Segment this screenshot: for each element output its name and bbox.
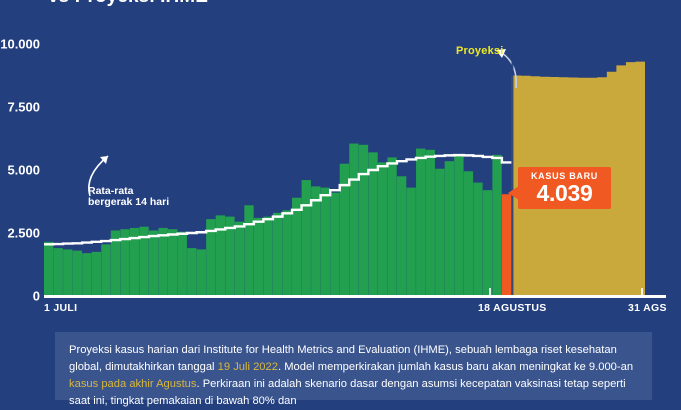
bar <box>168 229 177 296</box>
bar <box>426 150 435 296</box>
bar <box>244 205 253 296</box>
bar <box>359 145 368 296</box>
infographic-root: vs Proyeksi IHME 10.000 7.500 5.000 2.50… <box>0 0 681 400</box>
bar <box>263 217 272 296</box>
bar <box>197 249 206 296</box>
bar <box>82 253 91 296</box>
bar <box>378 162 387 296</box>
bar <box>282 210 291 296</box>
bar <box>397 176 406 296</box>
y-tick-0: 0 <box>33 289 40 304</box>
bar <box>54 248 63 296</box>
bar <box>101 244 110 296</box>
y-axis-labels: 10.000 7.500 5.000 2.500 0 <box>0 44 40 296</box>
bar <box>368 152 377 296</box>
bar <box>407 188 416 296</box>
bar <box>473 183 482 296</box>
x-tickmark-1 <box>489 288 491 296</box>
bar-latest <box>502 194 511 296</box>
bar <box>149 230 158 296</box>
bar <box>340 164 349 296</box>
x-tick-31-ags: 31 AGS <box>628 302 667 314</box>
x-tick-1-juli: 1 JULI <box>44 302 77 314</box>
bar <box>435 169 444 296</box>
bar <box>92 252 101 296</box>
bar <box>63 249 72 296</box>
moving-average-line-2: bergerak 14 hari <box>88 197 169 208</box>
bar <box>254 218 263 296</box>
bar <box>492 155 501 296</box>
caption-highlight-forecast: kasus pada akhir Agustus <box>69 378 197 390</box>
projection-annotation-label: Proyeksi <box>456 45 503 57</box>
bar <box>302 180 311 296</box>
projection-divider <box>511 44 513 296</box>
caption-part-2: . Model memperkirakan jumlah kasus baru … <box>278 361 633 373</box>
bar <box>349 144 358 296</box>
y-tick-10000: 10.000 <box>0 37 40 52</box>
bar <box>216 215 225 296</box>
bar <box>273 213 282 296</box>
callout-value: 4.039 <box>536 181 592 205</box>
bar <box>483 190 492 296</box>
bar <box>464 171 473 296</box>
x-axis-line <box>44 295 666 298</box>
bar <box>44 242 53 296</box>
bar <box>387 157 396 296</box>
y-tick-7500: 7.500 <box>7 100 40 115</box>
bar <box>187 248 196 296</box>
bar <box>178 232 187 296</box>
bar <box>416 149 425 296</box>
bar <box>235 222 244 296</box>
bar <box>321 188 330 296</box>
bar <box>311 186 320 296</box>
new-cases-callout: KASUS BARU 4.039 <box>518 167 611 209</box>
moving-average-annotation: Rata-rata bergerak 14 hari <box>88 186 169 208</box>
bar <box>73 251 82 296</box>
bar <box>445 161 454 296</box>
page-title: vs Proyeksi IHME <box>48 0 208 8</box>
y-tick-2500: 2.500 <box>7 226 40 241</box>
bar <box>330 193 339 296</box>
bar <box>454 155 463 296</box>
bar <box>292 198 301 296</box>
x-tickmark-2 <box>641 288 643 296</box>
caption-highlight-date: 19 Juli 2022 <box>218 361 278 373</box>
x-tick-18-agustus: 18 AGUSTUS <box>478 302 547 314</box>
y-tick-5000: 5.000 <box>7 163 40 178</box>
caption-box: Proyeksi kasus harian dari Institute for… <box>55 332 652 400</box>
bar <box>158 228 167 296</box>
